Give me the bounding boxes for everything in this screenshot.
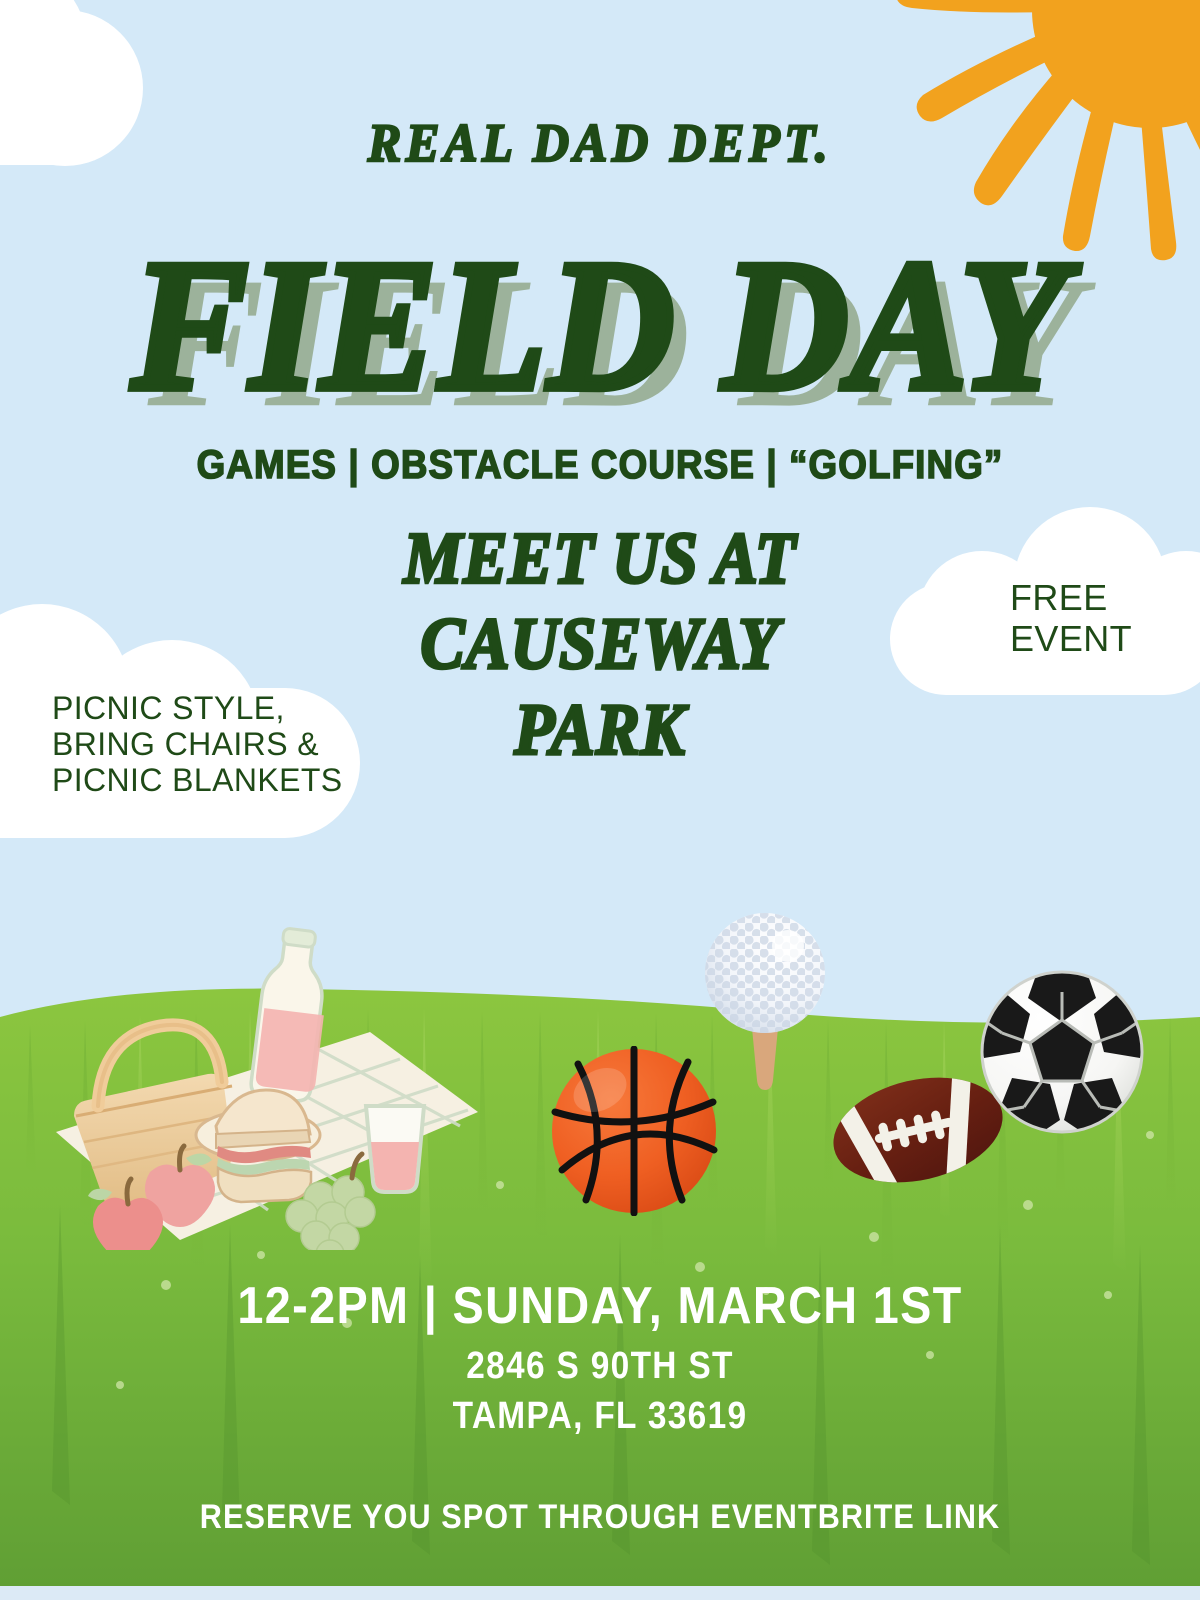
- event-time-text: 12-2PM | SUNDAY, MARCH 1ST: [60, 1276, 1140, 1336]
- venue-line-1: MEET US AT: [0, 516, 1200, 602]
- cta-text: RESERVE YOU SPOT THROUGH EVENTBRITE LINK: [60, 1498, 1140, 1537]
- venue-line-3: PARK: [0, 688, 1200, 774]
- address-line-1: 2846 S 90TH ST: [72, 1345, 1128, 1388]
- kicker-text: REAL DAD DEPT.: [42, 112, 1158, 174]
- bottom-edge-strip: [0, 1586, 1200, 1600]
- venue-line-2: CAUSEWAY: [0, 602, 1200, 688]
- address-line-2: TAMPA, FL 33619: [72, 1395, 1128, 1438]
- golf-ball-on-tee-illustration: [700, 910, 830, 1110]
- flyer-poster: PICNIC STYLE, BRING CHAIRS & PICNIC BLAN…: [0, 0, 1200, 1600]
- tagline-text: GAMES | OBSTACLE COURSE | “GOLFING”: [48, 443, 1152, 488]
- soccer-ball-illustration: [978, 968, 1146, 1136]
- basketball-illustration: [548, 1046, 720, 1216]
- picnic-scene-illustration: [40, 920, 480, 1250]
- venue-heading: MEET US AT CAUSEWAY PARK: [0, 516, 1200, 773]
- page-title: FIELD DAY: [0, 232, 1200, 419]
